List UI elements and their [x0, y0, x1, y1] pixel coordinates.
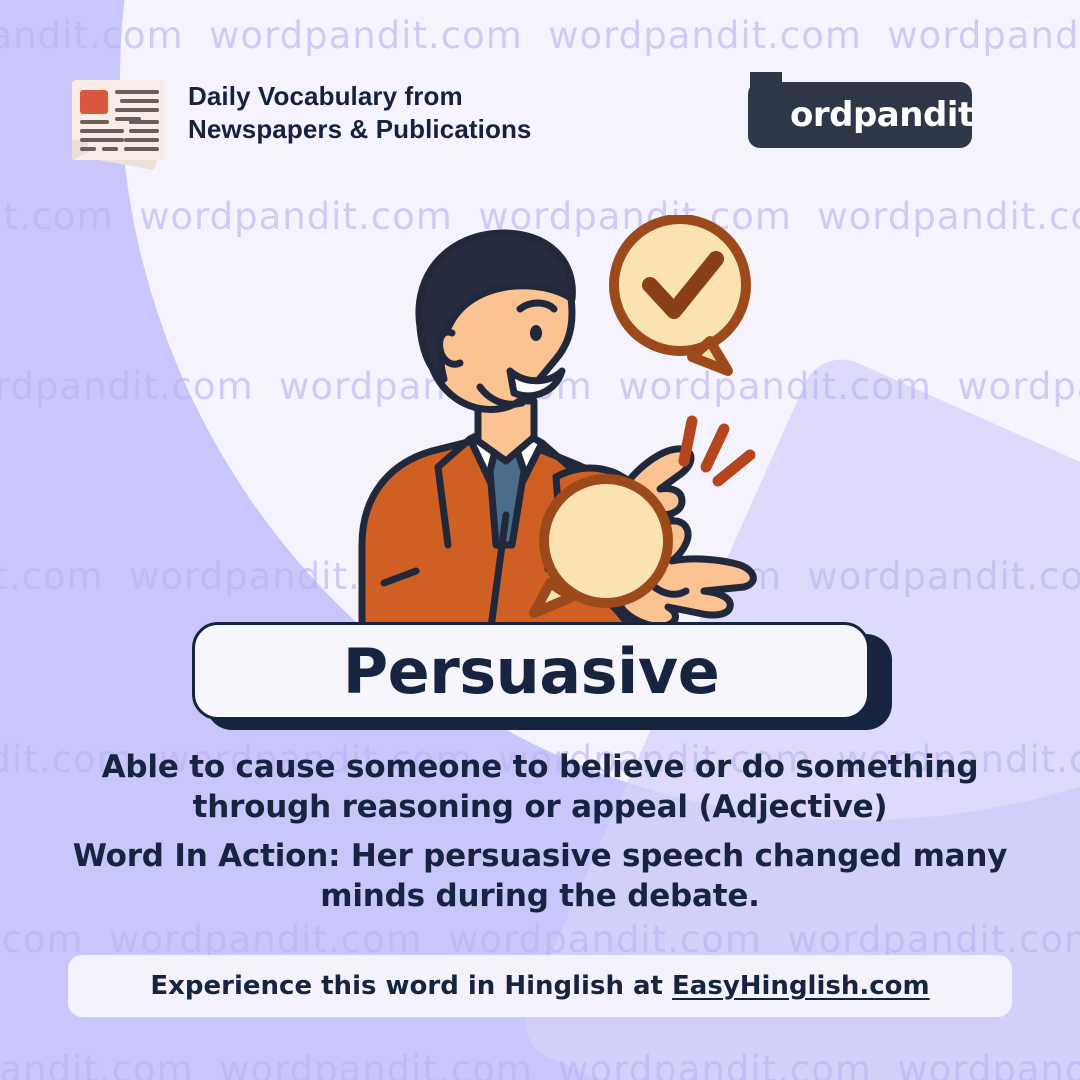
header-title-line1: Daily Vocabulary from: [188, 80, 618, 113]
hinglish-banner-text: Experience this word in Hinglish at Easy…: [150, 971, 929, 1001]
easyhinglish-link[interactable]: EasyHinglish.com: [672, 971, 930, 1001]
bookmark-w-icon: [742, 70, 788, 148]
header: Daily Vocabulary from Newspapers & Publi…: [0, 60, 1080, 170]
word-card: Persuasive: [192, 622, 892, 730]
wordpandit-logo[interactable]: ordpandit: [748, 82, 972, 148]
word-card-body: Persuasive: [192, 622, 870, 720]
emphasis-burst-lines: [684, 421, 750, 481]
hinglish-banner[interactable]: Experience this word in Hinglish at Easy…: [68, 955, 1012, 1017]
hinglish-banner-prefix: Experience this word in Hinglish at: [150, 971, 672, 1001]
header-title-line2: Newspapers & Publications: [188, 113, 618, 146]
vocabulary-card: wordpandit.com wordpandit.com wordpandit…: [0, 0, 1080, 1080]
header-title: Daily Vocabulary from Newspapers & Publi…: [188, 80, 618, 145]
vocabulary-word: Persuasive: [343, 635, 720, 708]
word-definition: Able to cause someone to believe or do s…: [60, 748, 1020, 827]
brand-name: ordpandit: [790, 82, 974, 148]
word-in-action-example: Word In Action: Her persuasive speech ch…: [50, 836, 1030, 917]
newspaper-icon: [58, 74, 176, 179]
persuasive-speaker-illustration: [320, 215, 800, 635]
